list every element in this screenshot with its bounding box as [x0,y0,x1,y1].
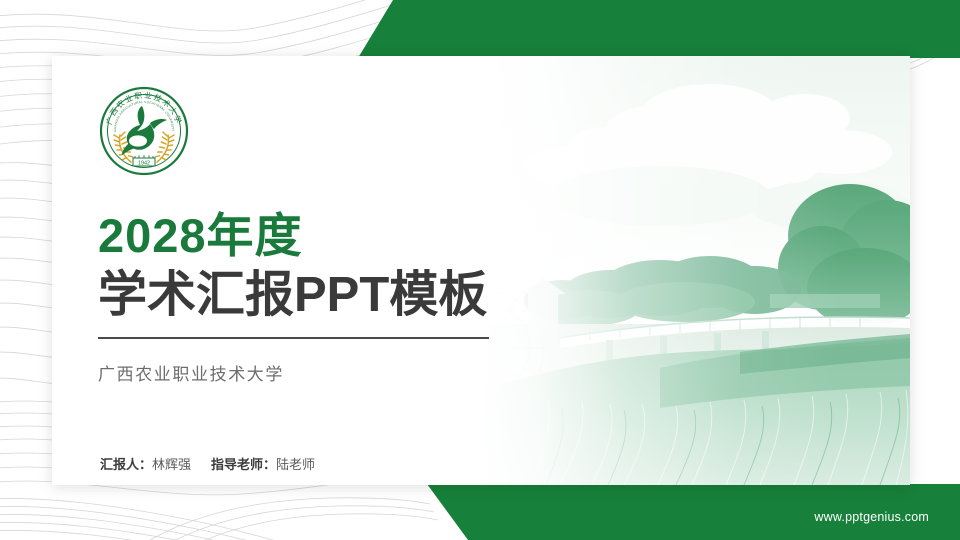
presenter-line: 汇报人：林辉强指导老师：陆老师 [100,454,315,473]
title-subtitle: 广西农业职业技术大学 [98,360,538,385]
footer-website-url[interactable]: www.pptgenius.com [814,510,929,524]
logo-year: 1942 [138,160,150,166]
advisor-label: 指导老师： [211,457,276,472]
advisor-name: 陆老师 [276,457,315,472]
top-green-band [358,0,960,58]
card-content: 广西农业职业技术大学 GUANGXI AGRICULTURAL VOCATION… [98,56,558,485]
title-block: 2028年度 学术汇报PPT模板 广西农业职业技术大学 [98,212,538,385]
reporter-name: 林辉强 [152,457,191,472]
title-year: 2028年度 [98,212,538,260]
presentation-slide: 广西农业职业技术大学 GUANGXI AGRICULTURAL VOCATION… [0,0,960,540]
title-divider-rule [98,337,489,339]
title-main: 学术汇报PPT模板 [98,268,538,323]
slide-card: 广西农业职业技术大学 GUANGXI AGRICULTURAL VOCATION… [52,56,910,485]
university-logo-icon: 广西农业职业技术大学 GUANGXI AGRICULTURAL VOCATION… [98,85,190,177]
reporter-label: 汇报人： [100,457,152,472]
